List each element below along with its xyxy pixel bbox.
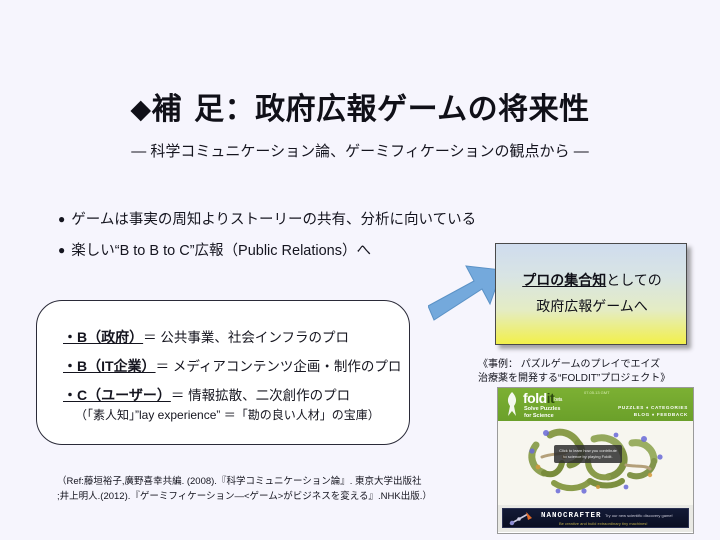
caption-line-1: 《事例： パズルゲームのプレイでエイズ — [478, 358, 713, 372]
bullet-dot-icon: ● — [58, 212, 65, 226]
protein-structure-icon — [498, 421, 693, 505]
nav-row-1[interactable]: PUZZLES ♦ CATEGORIES — [618, 404, 688, 411]
blue-arrow-icon — [428, 258, 504, 324]
role-definition-content: ・B（政府）＝ 公共事業、社会インフラのプロ ・B（IT企業）＝ メディアコンテ… — [63, 323, 403, 424]
nav-row-2[interactable]: BLOG ♦ FEEDBACK — [618, 411, 688, 418]
footnote-line-2: ;井上明人.(2012).『ゲーミフィケーション―<ゲーム>がビジネスを変える』… — [57, 489, 487, 504]
nanocrafter-icon — [506, 510, 540, 528]
conclusion-text: プロの集合知としての 政府広報ゲームへ — [496, 267, 688, 319]
conclusion-keyword: プロの集合知 — [522, 272, 606, 288]
page-title: ◆補足：政府広報ゲームの将来性 — [0, 84, 720, 128]
foldit-site-header: folditbeta Solve Puzzles for Science 07.… — [498, 388, 693, 421]
foldit-tooltip: Click to learn how you contribute to sci… — [554, 445, 622, 463]
nanocrafter-subtitle-1: Try our new scientific discovery game! — [605, 513, 673, 518]
title-part-2: 足：政府広報ゲームの将来性 — [194, 93, 590, 126]
bullet-list: ●ゲームは事実の周知よりストーリーの共有、分析に向いている ●楽しい“B to … — [58, 204, 528, 266]
foldit-date: 07.05.13 GMT — [584, 390, 610, 395]
role-definition-box: ・B（政府）＝ 公共事業、社会インフラのプロ ・B（IT企業）＝ メディアコンテ… — [36, 300, 410, 445]
reference-footnote: （Ref:藤垣裕子,廣野喜幸共編. (2008).『科学コミュニケーション論』.… — [57, 474, 487, 504]
nanocrafter-subtitle-2: Be creative and build extraordinary tiny… — [559, 521, 648, 526]
protein-viewport: Click to learn how you contribute to sci… — [498, 421, 693, 505]
ribbon-icon — [504, 391, 520, 417]
title-part-1: 補 — [152, 93, 183, 126]
role-subnote: （「素人知」”lay experience” ＝「勘の良い人材」の宝庫） — [63, 406, 403, 424]
logo-fold: fold — [523, 390, 547, 406]
conclusion-box: プロの集合知としての 政府広報ゲームへ — [495, 243, 687, 345]
page-subtitle: ― 科学コミュニケーション論、ゲーミフィケーションの観点から ― — [0, 140, 720, 161]
nanocrafter-banner[interactable]: NANOCRAFTER Try our new scientific disco… — [502, 508, 689, 528]
bullet-dot-icon: ● — [58, 243, 65, 257]
logo-beta: beta — [554, 397, 562, 403]
caption-line-2: 治療薬を開発する“FOLDIT”プロジェクト》 — [478, 372, 713, 386]
diamond-icon: ◆ — [130, 94, 151, 124]
foldit-screenshot: folditbeta Solve Puzzles for Science 07.… — [497, 387, 694, 534]
conclusion-line-2: 政府広報ゲームへ — [496, 293, 688, 319]
example-caption: 《事例： パズルゲームのプレイでエイズ 治療薬を開発する“FOLDIT”プロジェ… — [478, 358, 713, 386]
role-value: ＝ 情報拡散、二次創作のプロ — [171, 388, 350, 403]
role-row-government: ・B（政府）＝ 公共事業、社会インフラのプロ — [63, 323, 403, 352]
role-key: ・B（IT企業） — [63, 358, 156, 374]
role-value: ＝ 公共事業、社会インフラのプロ — [143, 330, 349, 345]
conclusion-line-1: プロの集合知としての — [496, 267, 688, 293]
tagline-line-1: Solve Puzzles — [524, 406, 560, 413]
role-key: ・B（政府） — [63, 329, 143, 345]
foldit-footer: NANOCRAFTER Try our new scientific disco… — [498, 505, 693, 532]
role-row-it-company: ・B（IT企業）＝ メディアコンテンツ企画・制作のプロ — [63, 352, 403, 381]
footnote-line-1: （Ref:藤垣裕子,廣野喜幸共編. (2008).『科学コミュニケーション論』.… — [57, 474, 487, 489]
conclusion-line-1-rest: としての — [606, 272, 662, 288]
bullet-text: ゲームは事実の周知よりストーリーの共有、分析に向いている — [71, 212, 476, 228]
foldit-nav: PUZZLES ♦ CATEGORIES BLOG ♦ FEEDBACK — [618, 404, 688, 418]
slide-canvas: ◆補足：政府広報ゲームの将来性 ― 科学コミュニケーション論、ゲーミフィケーショ… — [0, 0, 720, 540]
nanocrafter-title: NANOCRAFTER — [541, 512, 602, 520]
foldit-tagline: Solve Puzzles for Science — [524, 406, 560, 420]
role-key: ・C（ユーザー） — [63, 387, 171, 403]
bullet-text: 楽しい“B to B to C”広報（Public Relations）へ — [71, 243, 371, 259]
tagline-line-2: for Science — [524, 413, 560, 420]
role-value: ＝ メディアコンテンツ企画・制作のプロ — [156, 359, 402, 374]
list-item: ●ゲームは事実の周知よりストーリーの共有、分析に向いている — [58, 204, 528, 235]
